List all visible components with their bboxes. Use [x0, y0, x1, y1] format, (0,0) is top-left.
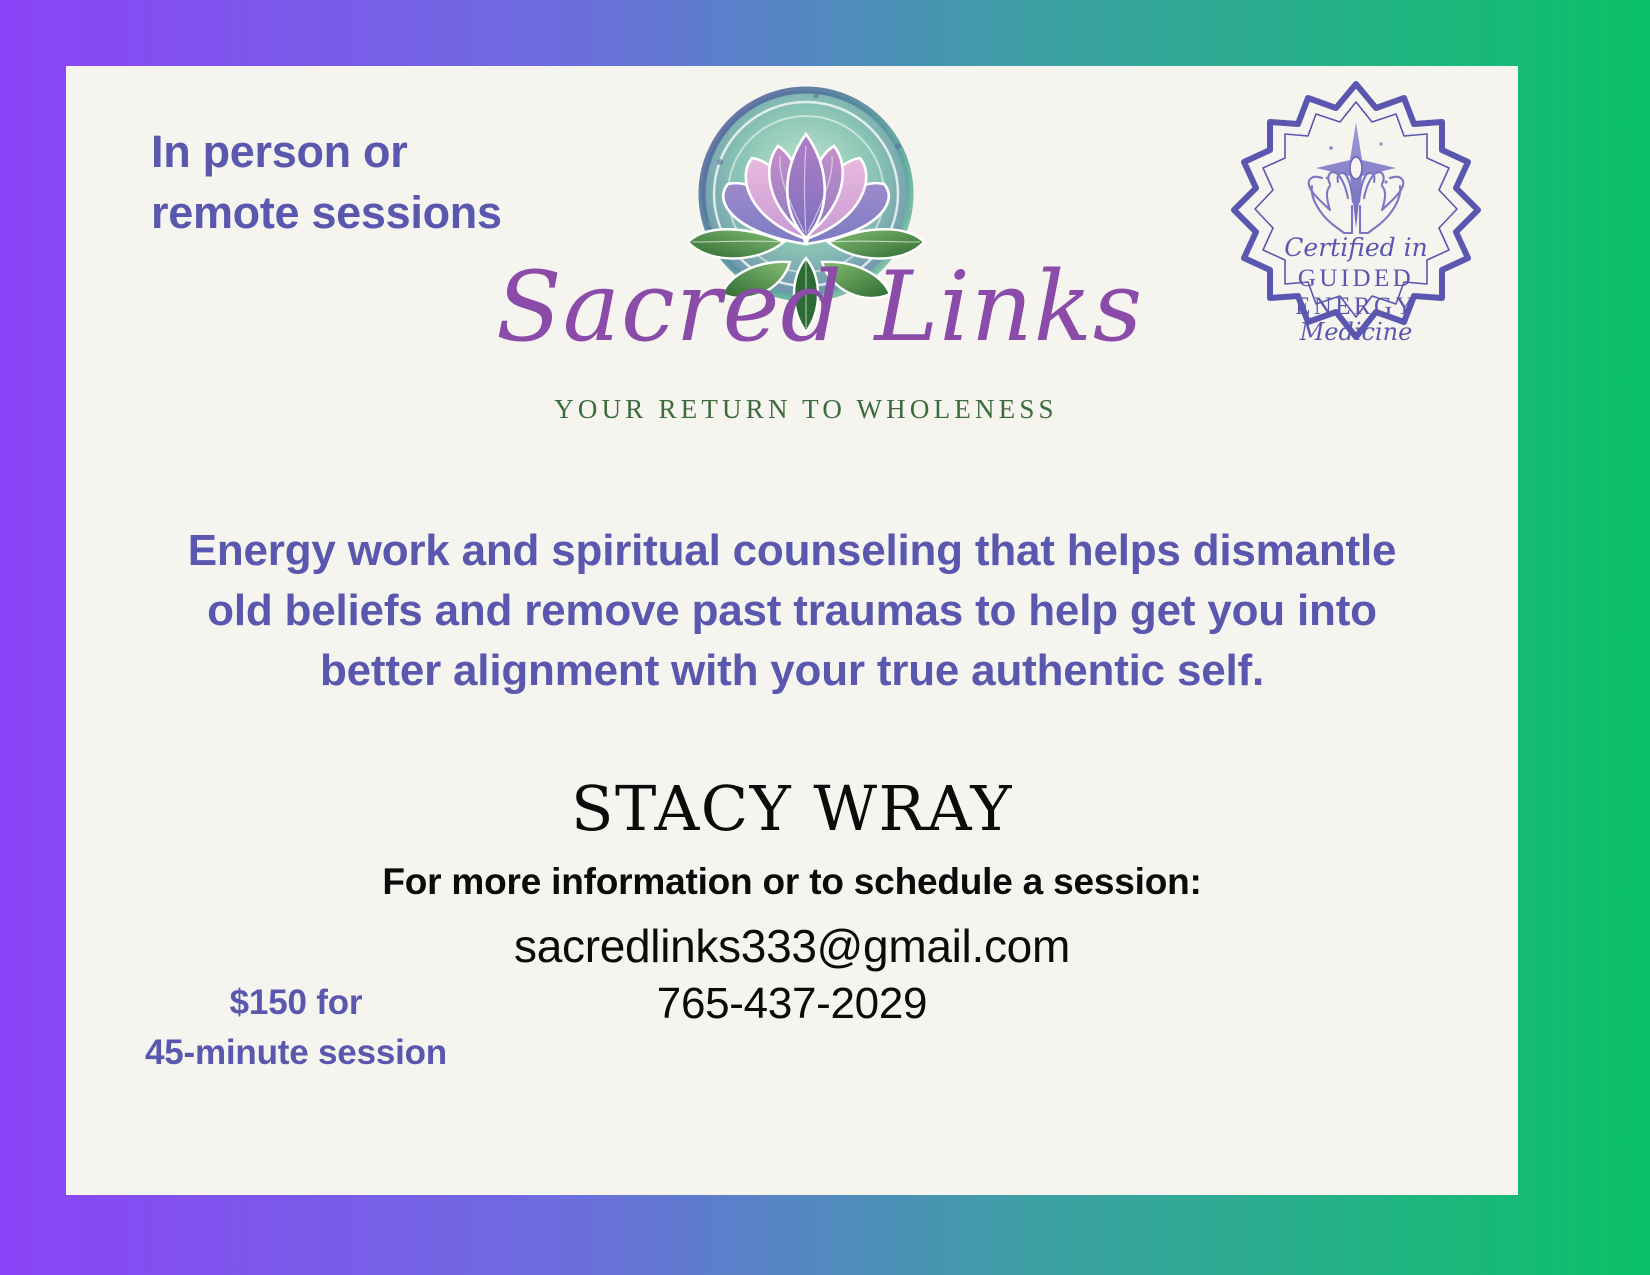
contact-email[interactable]: sacredlinks333@gmail.com	[66, 919, 1518, 973]
certification-badge: Certified in GUIDED ENERGY Medicine	[1226, 78, 1486, 343]
brand-tagline: YOUR RETURN TO WHOLENESS	[496, 394, 1116, 425]
statement-line-1: Energy work and spiritual counseling tha…	[136, 521, 1448, 581]
brand-name: Sacred Links	[496, 259, 1116, 355]
session-format-tagline: In person or remote sessions	[151, 121, 551, 243]
price-block: $150 for 45-minute session	[106, 978, 486, 1077]
badge-line-4: Medicine	[1299, 318, 1413, 343]
contact-heading: For more information or to schedule a se…	[66, 861, 1518, 903]
statement-line-2: old beliefs and remove past traumas to h…	[136, 581, 1448, 641]
tagline-line-1: In person or	[151, 121, 551, 182]
practitioner-name: STACY WRAY	[66, 772, 1518, 845]
tagline-line-2: remote sessions	[151, 182, 551, 243]
poster-frame: In person or remote sessions	[0, 0, 1650, 1275]
flyer-card: In person or remote sessions	[66, 66, 1518, 1195]
top-row: In person or remote sessions	[66, 66, 1518, 486]
service-statement: Energy work and spiritual counseling tha…	[136, 521, 1448, 700]
price-line-1: $150 for	[106, 978, 486, 1028]
price-line-2: 45-minute session	[106, 1028, 486, 1078]
brand-logo: Sacred Links YOUR RETURN TO WHOLENESS	[496, 74, 1116, 484]
badge-line-1: Certified in	[1284, 233, 1427, 262]
badge-line-3: ENERGY	[1295, 293, 1417, 320]
badge-line-2: GUIDED	[1298, 265, 1414, 292]
statement-line-3: better alignment with your true authenti…	[136, 641, 1448, 701]
